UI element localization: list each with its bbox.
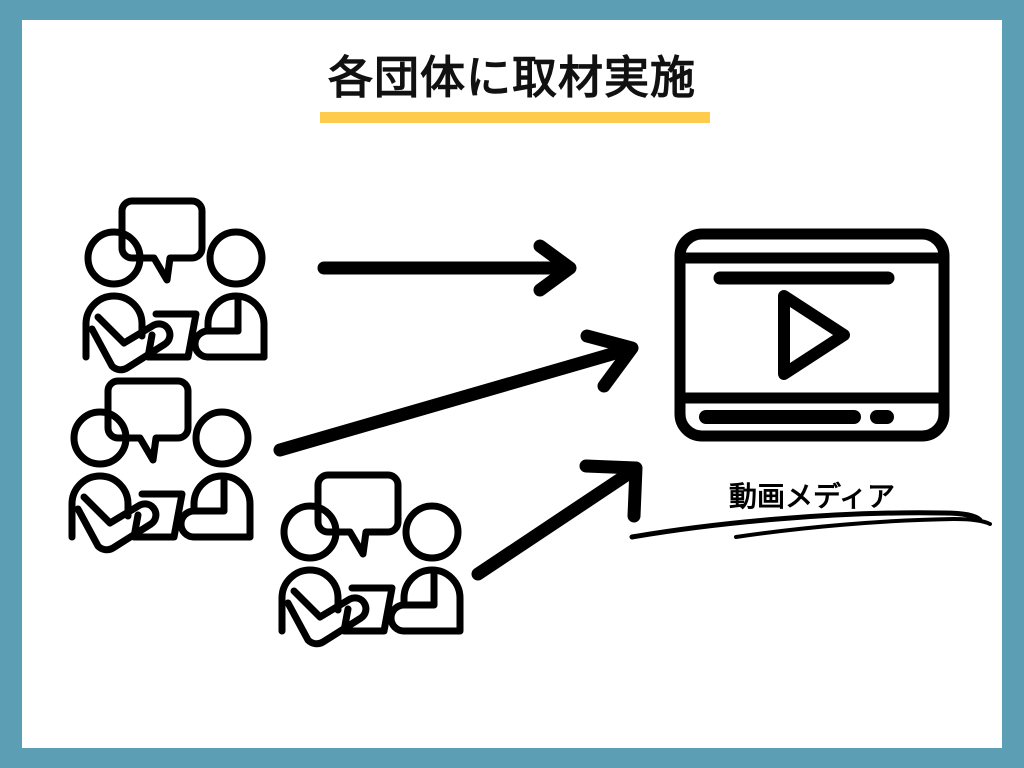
interview-group-icon-1 [74,196,286,362]
video-media-underline-swoosh [624,503,994,543]
interviewee-person-icon [391,506,460,631]
video-frame [680,234,944,436]
page-title-text: 各団体に取材実施 [322,52,702,104]
arrow-group-1-to-media [320,238,580,298]
interviewer-person-icon [72,412,182,550]
arrow-group-3-to-media [470,452,650,582]
interviewer-person-icon [282,506,392,644]
title-underline-accent [320,112,710,123]
arrow-group-2-to-media [274,330,644,460]
interview-group-icon-3 [270,470,482,636]
video-player-icon [672,226,952,444]
interviewer-person-icon [86,232,196,370]
page-title: 各団体に取材実施 [22,52,1002,104]
slide-frame: 各団体に取材実施 [0,0,1024,768]
interviewee-person-icon [181,412,250,537]
play-triangle-icon [784,296,844,374]
interview-group-icon-2 [60,376,272,542]
interviewee-person-icon [195,232,264,357]
slide-canvas: 各団体に取材実施 [22,20,1002,748]
